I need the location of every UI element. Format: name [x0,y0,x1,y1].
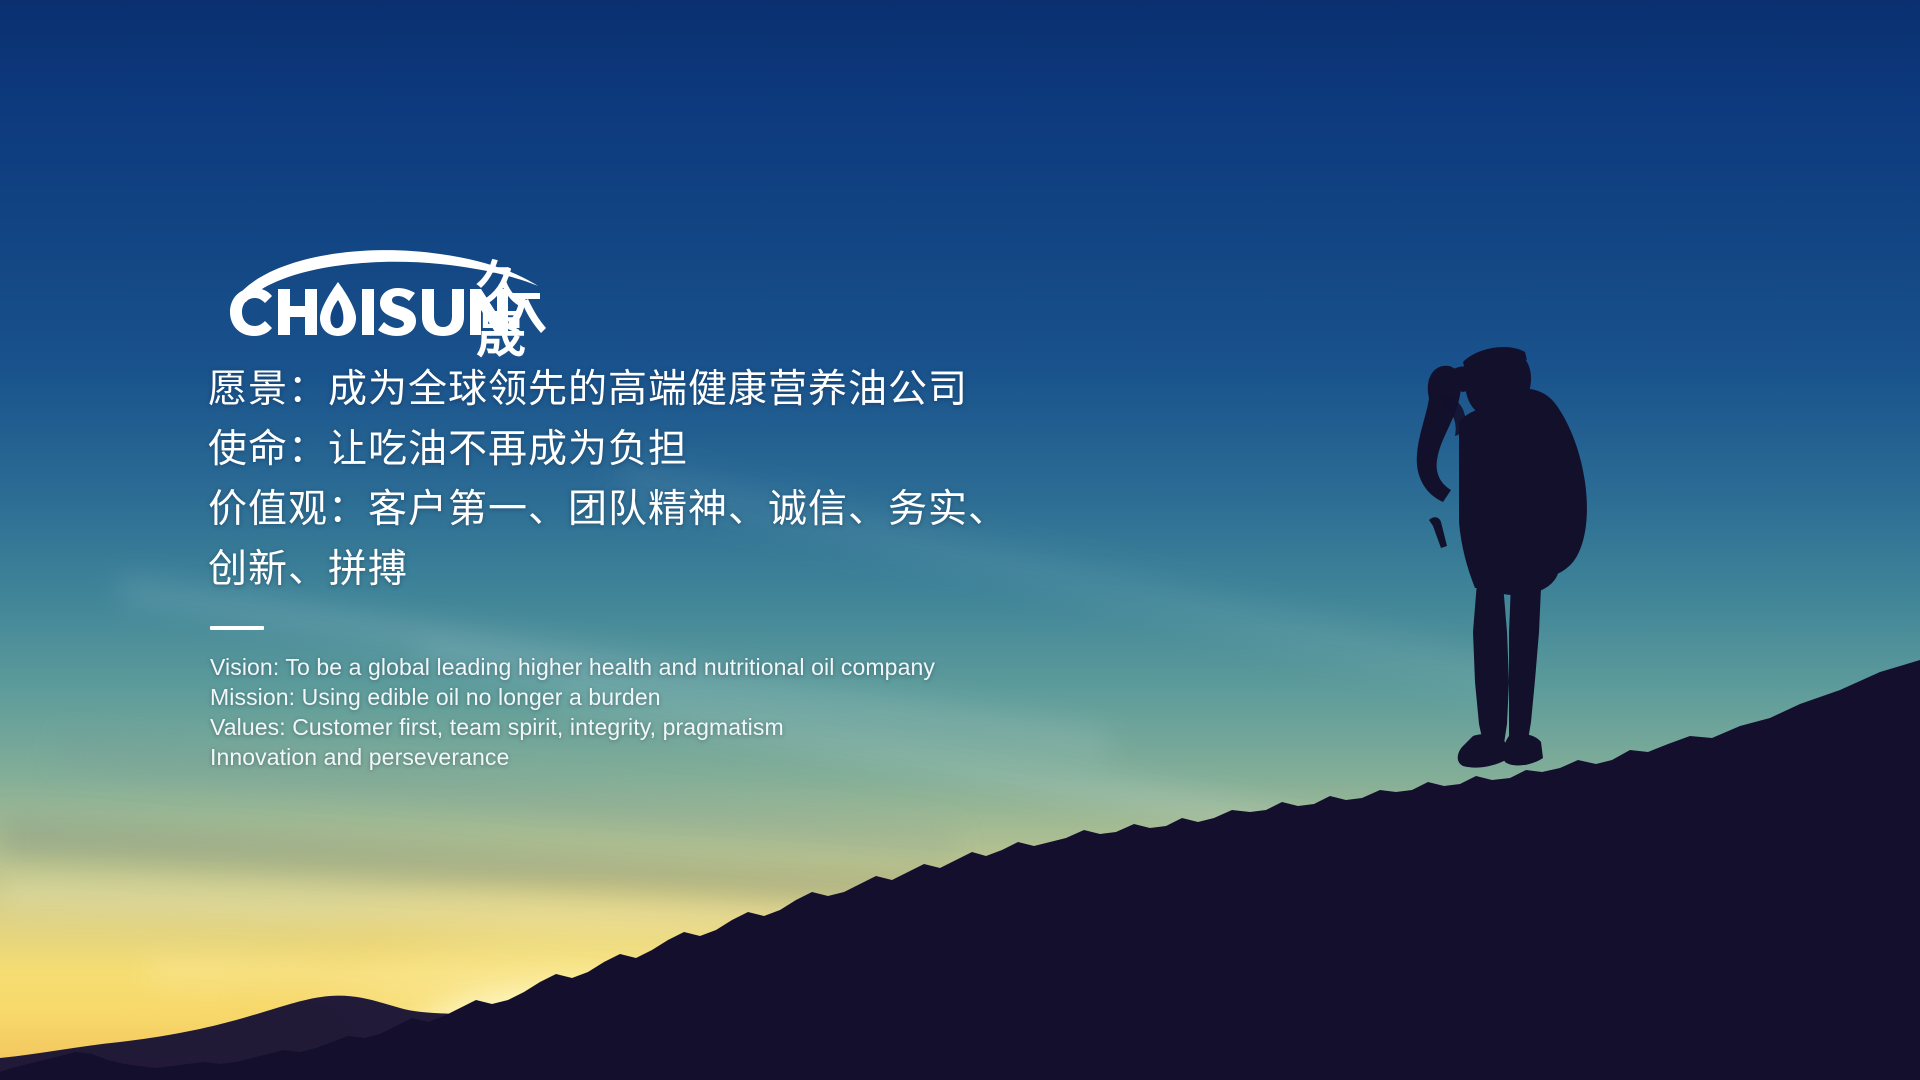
hiker-silhouette [1385,332,1635,792]
slide-canvas: 久晟 愿景：成为全球领先的高端健康营养油公司 使命：让吃油不再成为负担 价值观：… [0,0,1920,1080]
vision-line-cn: 愿景：成为全球领先的高端健康营养油公司 [208,360,1308,420]
vision-line-en: Vision: To be a global leading higher he… [210,652,1308,682]
mission-line-cn: 使命：让吃油不再成为负担 [208,420,1308,480]
mission-line-en: Mission: Using edible oil no longer a bu… [210,682,1308,712]
values-line-cn-1: 价值观：客户第一、团队精神、诚信、务实、 [208,480,1308,540]
section-divider [210,626,264,630]
chinese-statement-block: 愿景：成为全球领先的高端健康营养油公司 使命：让吃油不再成为负担 价值观：客户第… [208,360,1308,600]
values-line-en-1: Values: Customer first, team spirit, int… [210,712,1308,742]
english-statement-block: Vision: To be a global leading higher he… [210,652,1308,772]
logo-cjk-text: 久晟 [476,260,548,360]
values-line-en-2: Innovation and perseverance [210,742,1308,772]
choisun-logo[interactable]: 久晟 [208,244,548,336]
values-line-cn-2: 创新、拼搏 [208,540,1308,600]
content-block: 久晟 愿景：成为全球领先的高端健康营养油公司 使命：让吃油不再成为负担 价值观：… [208,244,1308,772]
